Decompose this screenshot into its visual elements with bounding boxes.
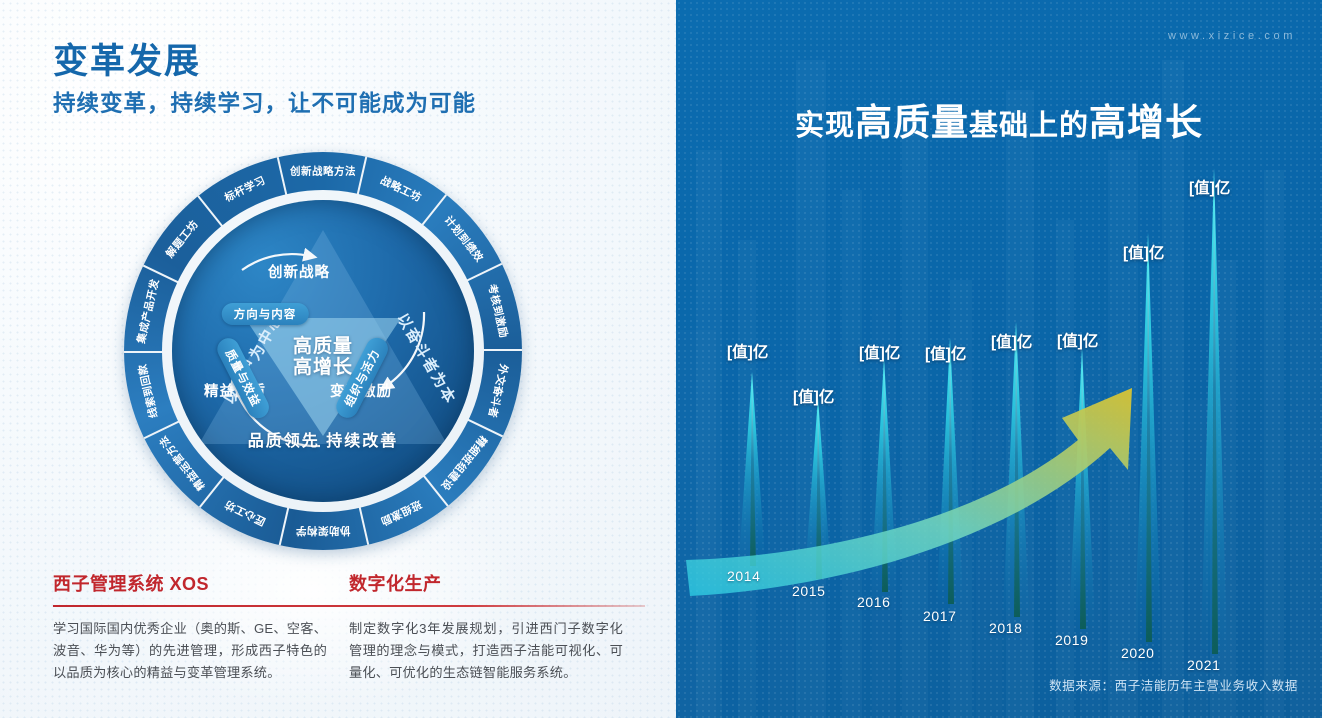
wheel-ring-label-text: 创新战略方法 (290, 164, 356, 179)
triangle-corner-top: 创新战略 (268, 261, 330, 282)
chart-value-label: [值]亿 (991, 330, 1032, 352)
wheel-ring-label-text: 协助架构学 (296, 524, 351, 539)
page-title: 变革发展 (53, 33, 201, 84)
chart-year-label: 2021 (1187, 657, 1221, 673)
page-subtitle: 持续变革，持续学习，让不可能成为可能 (53, 86, 476, 118)
pill-direction-content: 方向与内容 (222, 303, 309, 325)
chart-year-label: 2017 (923, 608, 957, 624)
chart-year-label: 2018 (989, 620, 1023, 636)
chart-year-label: 2019 (1055, 632, 1089, 648)
footer-heading-digital: 数字化生产 (349, 570, 442, 596)
chart-source-note: 数据来源：西子洁能历年主营业务收入数据 (1049, 675, 1298, 694)
chart-year-label: 2015 (792, 583, 826, 599)
wheel-center-text: 高质量 高增长 (124, 336, 522, 379)
footer-heading-xos: 西子管理系统 XOS (53, 570, 349, 596)
chart-value-label: [值]亿 (1189, 176, 1230, 198)
footer-columns: 学习国际国内优秀企业（奥的斯、GE、空客、波音、华为等）的先进管理，形成西子特色… (53, 618, 645, 685)
chart-value-label: [值]亿 (727, 340, 768, 362)
footer-divider (53, 605, 645, 607)
footer-body-xos: 学习国际国内优秀企业（奥的斯、GE、空客、波音、华为等）的先进管理，形成西子特色… (53, 618, 327, 685)
management-wheel-diagram: 创新战略方法战略工坊计划到绩效考核到激励外文奋斗者精细班组建设班组激励协助架构学… (124, 152, 522, 550)
footer-body-digital: 制定数字化3年发展规划，引进西门子数字化管理的理念与模式，打造西子洁能可视化、可… (349, 618, 623, 685)
chart-year-label: 2016 (857, 594, 891, 610)
right-panel: www.xizice.com 实现高质量基础上的高增长 (676, 0, 1322, 718)
footer-headings: 西子管理系统 XOS 数字化生产 (53, 570, 645, 596)
chart-value-label: [值]亿 (1057, 329, 1098, 351)
chart-value-label: [值]亿 (793, 385, 834, 407)
slide-root: 变革发展 持续变革，持续学习，让不可能成为可能 创新战略方法战略工坊计划到绩效考… (0, 0, 1322, 718)
growth-spike-chart (676, 0, 1322, 718)
chart-value-label: [值]亿 (925, 342, 966, 364)
wheel-center-line2: 高增长 (124, 357, 522, 378)
wheel-bottom-slogan: 品质领先 持续改善 (248, 427, 398, 451)
wheel-center-line1: 高质量 (124, 336, 522, 357)
chart-year-label: 2020 (1121, 645, 1155, 661)
chart-value-label: [值]亿 (859, 341, 900, 363)
footer-block: 西子管理系统 XOS 数字化生产 学习国际国内优秀企业（奥的斯、GE、空客、波音… (53, 570, 645, 684)
left-panel: 变革发展 持续变革，持续学习，让不可能成为可能 创新战略方法战略工坊计划到绩效考… (0, 0, 676, 718)
chart-year-label: 2014 (727, 568, 761, 584)
chart-value-label: [值]亿 (1123, 241, 1164, 263)
